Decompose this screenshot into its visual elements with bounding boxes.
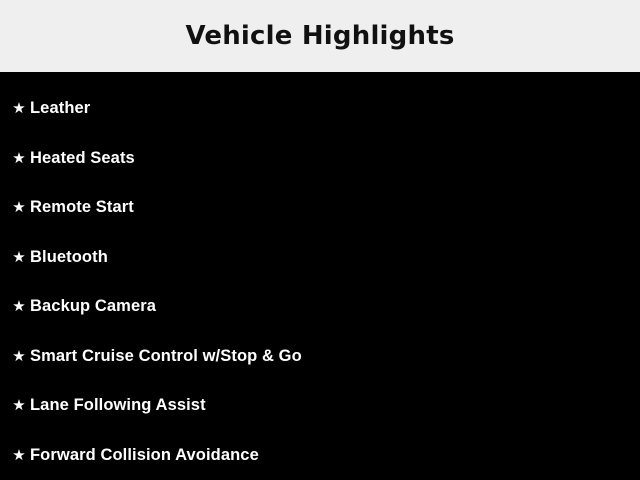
highlight-label: Forward Collision Avoidance [30, 446, 259, 465]
list-item: ★ Smart Cruise Control w/Stop & Go [0, 332, 640, 382]
star-icon: ★ [8, 200, 30, 215]
star-icon: ★ [8, 349, 30, 364]
star-icon: ★ [8, 250, 30, 265]
list-item: ★ Backup Camera [0, 282, 640, 332]
highlight-label: Backup Camera [30, 297, 156, 316]
highlight-label: Remote Start [30, 198, 134, 217]
list-item: ★ Forward Collision Avoidance [0, 431, 640, 480]
list-item: ★ Remote Start [0, 183, 640, 233]
list-item: ★ Bluetooth [0, 233, 640, 283]
star-icon: ★ [8, 151, 30, 166]
star-icon: ★ [8, 398, 30, 413]
list-item: ★ Heated Seats [0, 134, 640, 184]
highlight-label: Lane Following Assist [30, 396, 206, 415]
page-title: Vehicle Highlights [185, 21, 454, 51]
star-icon: ★ [8, 448, 30, 463]
header-bar: Vehicle Highlights [0, 0, 640, 72]
list-item: ★ Leather [0, 84, 640, 134]
highlight-label: Bluetooth [30, 248, 108, 267]
highlight-label: Heated Seats [30, 149, 135, 168]
highlight-label: Leather [30, 99, 90, 118]
vehicle-highlights-panel: Vehicle Highlights ★ Leather ★ Heated Se… [0, 0, 640, 480]
star-icon: ★ [8, 299, 30, 314]
highlight-label: Smart Cruise Control w/Stop & Go [30, 347, 302, 366]
highlights-list: ★ Leather ★ Heated Seats ★ Remote Start … [0, 72, 640, 480]
star-icon: ★ [8, 101, 30, 116]
list-item: ★ Lane Following Assist [0, 381, 640, 431]
